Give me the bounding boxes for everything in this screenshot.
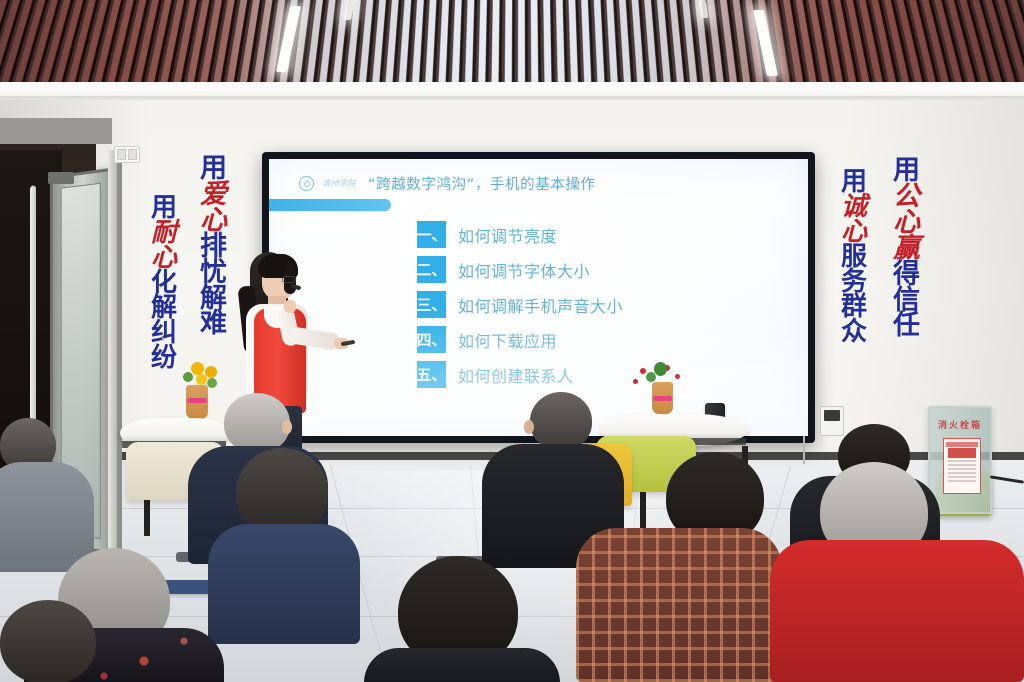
light-switch-panel[interactable] (114, 146, 140, 163)
calligraphy-char: 心 (893, 210, 920, 236)
poster-heading-bar (946, 442, 978, 447)
slide-item-number: 三、 (417, 291, 446, 318)
wall-calligraphy-left-outer: 用 耐 心 化 解 纠 纷 (151, 196, 177, 371)
presenter-glasses-icon (282, 276, 296, 283)
calligraphy-char: 心 (200, 208, 227, 234)
poster-text-line (948, 460, 976, 462)
calligraphy-char: 爱 (200, 182, 227, 208)
fire-cabinet-label: 消火栓箱 (934, 418, 986, 432)
switch-toggle-icon[interactable] (117, 149, 126, 160)
slide-item: 四、 如何下载应用 (417, 326, 798, 353)
audience-body (364, 648, 560, 682)
audience-ear (282, 420, 292, 434)
poster-text-line (948, 464, 976, 466)
calligraphy-char: 纠 (151, 321, 177, 346)
poster-text-line (948, 468, 976, 470)
door-frame (108, 150, 117, 550)
university-logo-icon (299, 176, 314, 191)
wall-calligraphy-right-inner: 用 诚 心 服 务 群 众 (841, 170, 867, 345)
audience-head (236, 448, 328, 536)
calligraphy-char: 忧 (200, 260, 227, 286)
sunflower-icon (196, 374, 207, 385)
audience-head (224, 393, 290, 453)
audience-body (770, 540, 1024, 682)
red-flower-icon (640, 368, 646, 374)
audience-head (0, 600, 96, 682)
logo-script-text: 滨州学院 (322, 178, 356, 189)
fire-safety-poster (943, 438, 981, 494)
slide-item-text: 如何调解手机声音大小 (458, 293, 623, 317)
calligraphy-char: 众 (841, 320, 867, 345)
poster-text-line (948, 476, 976, 478)
sunflower-icon (205, 366, 217, 378)
slide-item-number: 二、 (417, 256, 446, 283)
projection-screen[interactable]: 滨州学院 “跨越数字鸿沟”，手机的基本操作 一、 如何调节亮度 二、 如何调节字… (269, 159, 808, 436)
slide-header: 滨州学院 “跨越数字鸿沟”，手机的基本操作 (299, 173, 790, 194)
slide-item-text: 如何调节字体大小 (458, 258, 590, 282)
poster-text-line (948, 472, 976, 474)
calligraphy-char: 公 (893, 184, 920, 210)
left-pot-ribbon (187, 398, 207, 403)
poster-title-bar (948, 448, 976, 458)
slide-accent-bar (269, 199, 391, 211)
slide-item-text: 如何调节亮度 (458, 223, 557, 247)
slide-item: 五、 如何创建联系人 (417, 361, 798, 388)
slide-agenda-list: 一、 如何调节亮度 二、 如何调节字体大小 三、 如何调解手机声音大小 四、 如… (417, 221, 798, 388)
foliage-icon (183, 372, 193, 382)
wall-control-panel[interactable] (820, 406, 844, 436)
audience-body (208, 524, 360, 644)
door-header-beam (0, 118, 112, 144)
slide-item: 一、 如何调节亮度 (417, 221, 798, 248)
slide-item: 三、 如何调解手机声音大小 (417, 291, 798, 318)
slide-title: “跨越数字鸿沟”，手机的基本操作 (368, 173, 596, 194)
control-display-icon (824, 410, 840, 421)
slide-item-number: 四、 (417, 326, 446, 353)
slide-item-number: 一、 (417, 221, 446, 248)
red-flower-icon (633, 379, 638, 384)
calligraphy-char: 群 (841, 295, 867, 320)
slide-item: 二、 如何调节字体大小 (417, 256, 798, 283)
slide-item-text: 如何创建联系人 (458, 363, 574, 387)
poster-text-line (948, 480, 976, 482)
calligraphy-char: 得 (893, 262, 920, 288)
slide-item-text: 如何下载应用 (458, 328, 557, 352)
wall-calligraphy-right-outer: 用 公 心 赢 得 信 任 (893, 158, 920, 339)
calligraphy-char: 纷 (151, 346, 177, 371)
fire-hose-cabinet[interactable]: 消火栓箱 (928, 406, 992, 514)
foliage-icon (207, 378, 217, 388)
calligraphy-char: 赢 (893, 236, 920, 262)
calligraphy-char: 任 (893, 313, 920, 339)
audience-body (0, 462, 94, 572)
screen-cable (803, 436, 805, 464)
wall-calligraphy-left-inner: 用 爱 心 排 忧 解 难 (200, 156, 227, 337)
door-closer-icon (48, 172, 74, 184)
audience-head (530, 392, 592, 450)
calligraphy-char: 排 (200, 234, 227, 260)
foliage-icon (654, 362, 667, 376)
red-flower-icon (675, 374, 680, 379)
slide-item-number: 五、 (417, 361, 446, 388)
presenter-left-hand (284, 300, 296, 313)
right-pot-ribbon (653, 396, 672, 401)
audience-body (576, 528, 782, 682)
calligraphy-char: 难 (200, 311, 227, 337)
switch-toggle-icon[interactable] (128, 149, 137, 160)
foliage-icon (646, 372, 656, 382)
door-frame-edge (117, 150, 122, 550)
audience-ear (524, 420, 534, 434)
classroom-photo-scene: 用 爱 心 排 忧 解 难 用 耐 心 化 解 纠 纷 用 公 心 赢 得 信 … (0, 0, 1024, 682)
